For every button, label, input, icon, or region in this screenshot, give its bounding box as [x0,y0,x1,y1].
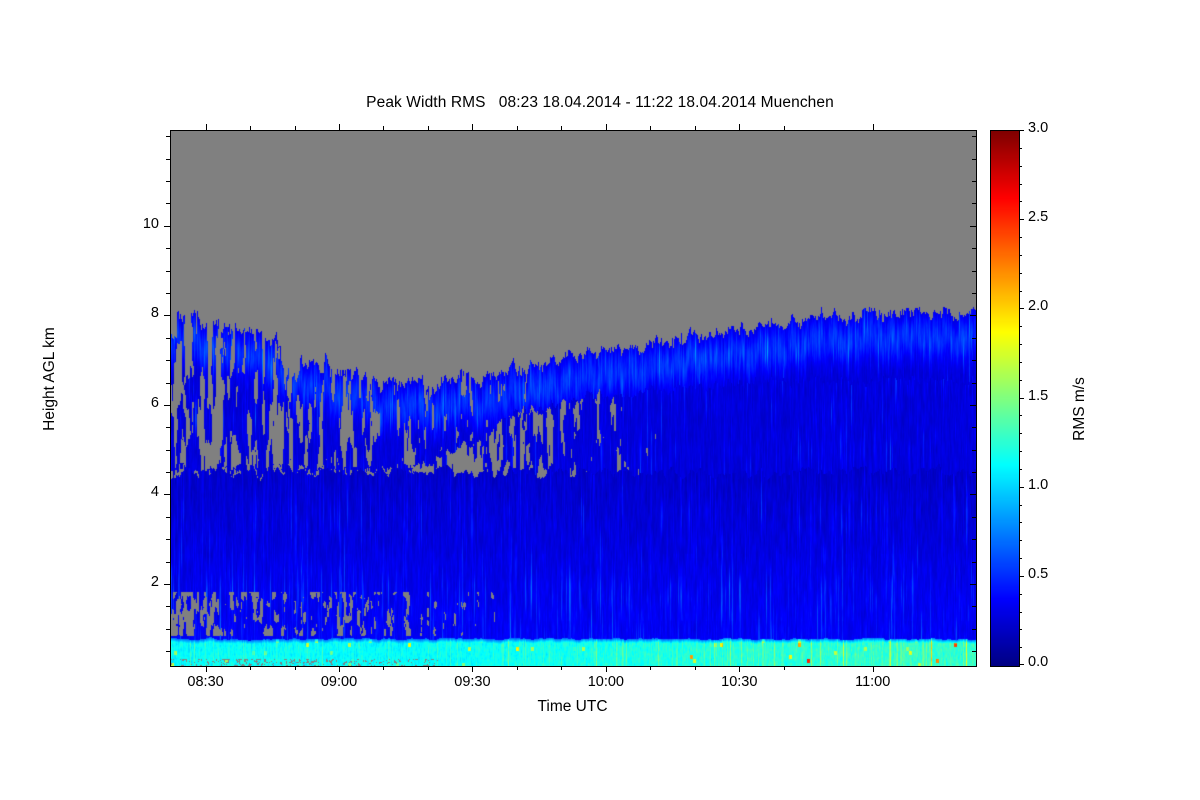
colorbar-tick-label-1: 0.5 [1028,566,1048,582]
x-tick-major-3 [606,666,607,672]
y-tick-minor [166,517,170,518]
y-tick-minor [166,472,170,473]
y-tick-minor-right [972,248,976,249]
y-tick-major-4 [164,226,170,227]
x-tick-minor-top [561,126,562,130]
x-tick-major-4 [739,666,740,672]
y-tick-minor-right [972,427,976,428]
y-tick-right-0 [970,584,976,585]
x-tick-minor-top [428,126,429,130]
y-tick-right-1 [970,494,976,495]
colorbar-tick-label-5: 2.5 [1028,209,1048,225]
y-tick-minor-right [972,181,976,182]
y-tick-minor-right [972,159,976,160]
x-tick-top-2 [472,124,473,130]
y-tick-minor-right [972,203,976,204]
y-tick-label-2: 6 [113,395,159,411]
x-tick-minor-top [517,126,518,130]
y-tick-label-4: 10 [113,216,159,232]
y-tick-minor-right [972,136,976,137]
y-tick-minor-right [972,472,976,473]
y-tick-minor-right [972,517,976,518]
y-tick-minor-right [972,629,976,630]
y-tick-label-0: 2 [113,574,159,590]
y-tick-minor-right [972,606,976,607]
x-tick-top-5 [873,124,874,130]
y-tick-minor [166,248,170,249]
y-tick-minor [166,136,170,137]
y-tick-minor-right [972,450,976,451]
x-tick-minor-top [250,126,251,130]
y-tick-minor [166,293,170,294]
y-tick-minor [166,360,170,361]
x-tick-major-0 [206,666,207,672]
x-tick-label-0: 08:30 [161,674,251,690]
y-tick-major-0 [164,584,170,585]
y-tick-minor [166,651,170,652]
colorbar-tick-label-3: 1.5 [1028,388,1048,404]
x-tick-top-3 [606,124,607,130]
y-tick-label-1: 4 [113,484,159,500]
x-tick-minor [561,666,562,670]
x-tick-major-1 [339,666,340,672]
x-tick-major-2 [472,666,473,672]
colorbar-title: RMS m/s [1071,309,1089,509]
y-tick-minor [166,181,170,182]
y-tick-minor-right [972,562,976,563]
y-tick-right-4 [970,226,976,227]
x-tick-top-0 [206,124,207,130]
x-tick-label-3: 10:00 [561,674,651,690]
y-tick-major-1 [164,494,170,495]
y-tick-minor [166,562,170,563]
x-tick-minor [383,666,384,670]
x-tick-minor [517,666,518,670]
y-tick-minor [166,539,170,540]
y-tick-minor [166,629,170,630]
colorbar[interactable] [990,130,1020,667]
x-tick-minor-top [695,126,696,130]
y-tick-right-2 [970,405,976,406]
x-tick-minor [428,666,429,670]
colorbar-gradient [991,131,1019,666]
y-tick-minor-right [972,539,976,540]
y-tick-label-3: 8 [113,305,159,321]
x-tick-major-5 [873,666,874,672]
y-tick-minor-right [972,651,976,652]
x-tick-minor [250,666,251,670]
y-tick-major-3 [164,315,170,316]
y-tick-minor-right [972,338,976,339]
x-tick-label-4: 10:30 [694,674,784,690]
y-tick-minor-right [972,293,976,294]
x-tick-minor-top [784,126,785,130]
colorbar-tick-label-4: 2.0 [1028,298,1048,314]
x-tick-minor [295,666,296,670]
chart-title: Peak Width RMS 08:23 18.04.2014 - 11:22 … [0,94,1200,112]
x-tick-minor-top [383,126,384,130]
x-tick-minor-top [650,126,651,130]
x-tick-minor [650,666,651,670]
x-tick-label-1: 09:00 [294,674,384,690]
y-tick-minor [166,338,170,339]
x-tick-minor [784,666,785,670]
x-tick-label-5: 11:00 [828,674,918,690]
x-tick-top-4 [739,124,740,130]
x-axis-title: Time UTC [170,698,975,716]
y-tick-minor-right [972,383,976,384]
x-tick-top-1 [339,124,340,130]
y-tick-minor [166,383,170,384]
figure-canvas: Peak Width RMS 08:23 18.04.2014 - 11:22 … [0,0,1200,800]
heatmap-canvas [171,131,976,666]
y-tick-minor-right [972,271,976,272]
colorbar-tick-label-2: 1.0 [1028,477,1048,493]
colorbar-tick-label-6: 3.0 [1028,120,1048,136]
y-tick-minor [166,427,170,428]
y-tick-major-2 [164,405,170,406]
x-tick-minor [695,666,696,670]
y-tick-minor [166,606,170,607]
y-tick-minor [166,159,170,160]
y-tick-minor-right [972,360,976,361]
heatmap-plot-area[interactable] [170,130,977,667]
x-tick-label-2: 09:30 [427,674,517,690]
y-tick-minor [166,450,170,451]
x-tick-minor-top [295,126,296,130]
colorbar-tick-label-0: 0.0 [1028,654,1048,670]
y-axis-title: Height AGL km [41,269,59,489]
y-tick-minor [166,271,170,272]
y-tick-right-3 [970,315,976,316]
y-tick-minor [166,203,170,204]
